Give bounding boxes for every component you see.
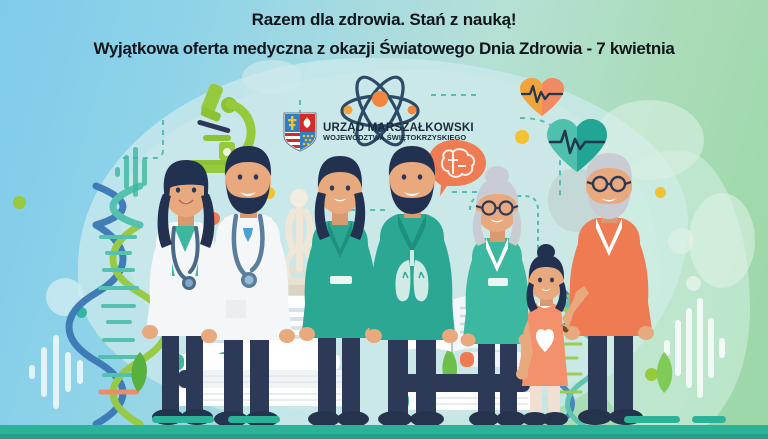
ground-pill [228,416,280,423]
character-male-doctor [201,146,295,427]
ground-pill [152,416,214,423]
health-day-poster: URZĄD MARSZAŁKOWSKI WOJEWÓDZTWA ŚWIĘTOKR… [0,0,768,439]
character-male-nurse-lungs [366,146,458,427]
ground-strip-shadow [0,434,768,439]
page-subtitle: Wyjątkowa oferta medyczna z okazji Świat… [0,39,768,59]
ground-pill [692,416,726,423]
character-elderly-woman [461,166,534,427]
page-title: Razem dla zdrowia. Stań z nauką! [0,10,768,30]
coat-of-arms-icon [283,112,317,152]
logo-line-2: WOJEWÓDZTWA ŚWIĘTOKRZYSKIEGO [323,134,474,142]
ground-pill [624,416,680,423]
character-nurse [299,156,381,427]
logo-urzad-marszalkowski: URZĄD MARSZAŁKOWSKI WOJEWÓDZTWA ŚWIĘTOKR… [283,112,474,152]
headline-block: Razem dla zdrowia. Stań z nauką! Wyjątko… [0,0,768,59]
characters-layer [0,0,768,439]
